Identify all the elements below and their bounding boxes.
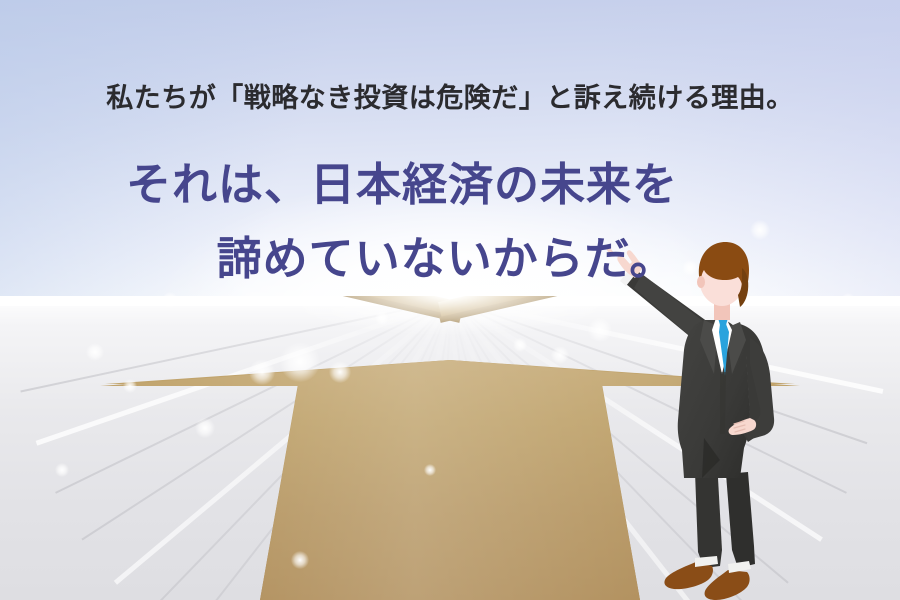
headline-line-1: それは、日本経済の未来を bbox=[0, 148, 852, 213]
banner-canvas: 私たちが「戦略なき投資は危険だ」と訴え続ける理由。 それは、日本経済の未来を 諦… bbox=[0, 0, 900, 600]
sparkle bbox=[280, 342, 320, 382]
sparkle bbox=[375, 311, 389, 325]
headline-line-2: 諦めていないからだ。 bbox=[0, 222, 896, 287]
kicker-text: 私たちが「戦略なき投資は危険だ」と訴え続ける理由。 bbox=[0, 76, 900, 115]
sparkle bbox=[513, 338, 527, 352]
sparkle bbox=[291, 551, 309, 569]
sparkle bbox=[551, 346, 569, 364]
sparkle bbox=[55, 463, 69, 477]
sparkle bbox=[424, 464, 436, 476]
shoes bbox=[664, 556, 751, 600]
sparkle bbox=[329, 361, 351, 383]
headline-block: 私たちが「戦略なき投資は危険だ」と訴え続ける理由。 それは、日本経済の未来を 諦… bbox=[0, 0, 900, 300]
sparkle bbox=[123, 379, 137, 393]
sparkle bbox=[249, 359, 275, 385]
sparkle bbox=[195, 418, 215, 438]
legs bbox=[695, 472, 755, 568]
sparkle bbox=[86, 343, 104, 361]
